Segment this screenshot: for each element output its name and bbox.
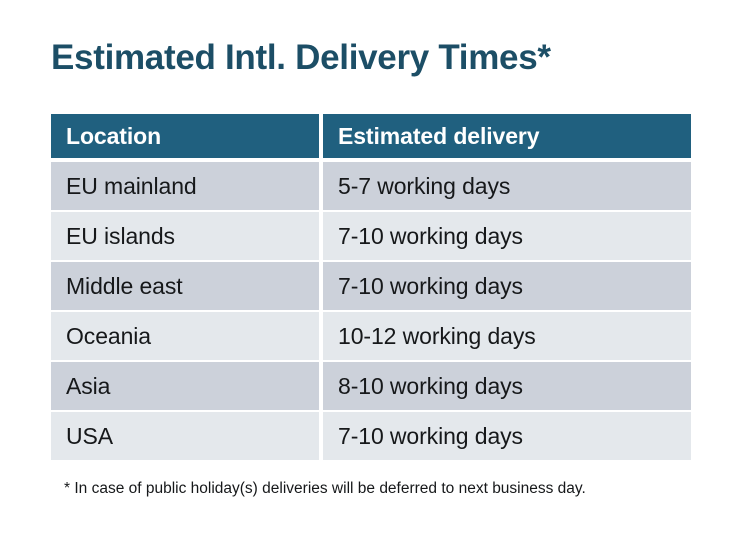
table-cell-delivery: 7-10 working days <box>323 212 691 260</box>
table-cell-delivery-text: 5-7 working days <box>338 173 510 200</box>
table-header-row: Location Estimated delivery <box>51 114 691 158</box>
delivery-times-page: Estimated Intl. Delivery Times* Location… <box>0 0 745 536</box>
table-cell-location: EU mainland <box>51 162 319 210</box>
table-row: USA 7-10 working days <box>51 412 691 460</box>
table-cell-location-text: EU islands <box>66 223 175 250</box>
table-cell-delivery-text: 7-10 working days <box>338 423 523 450</box>
table-cell-delivery: 5-7 working days <box>323 162 691 210</box>
page-title: Estimated Intl. Delivery Times* <box>51 36 551 80</box>
table-cell-location: EU islands <box>51 212 319 260</box>
table-cell-location-text: Asia <box>66 373 110 400</box>
table-row: Asia 8-10 working days <box>51 362 691 410</box>
table-cell-delivery: 8-10 working days <box>323 362 691 410</box>
delivery-times-table: Location Estimated delivery EU mainland … <box>51 114 691 462</box>
table-cell-location-text: Middle east <box>66 273 183 300</box>
table-row: Oceania 10-12 working days <box>51 312 691 360</box>
table-header-label-location: Location <box>66 123 161 150</box>
table-cell-location: Oceania <box>51 312 319 360</box>
table-cell-delivery: 7-10 working days <box>323 262 691 310</box>
table-cell-location: Asia <box>51 362 319 410</box>
table-cell-delivery-text: 8-10 working days <box>338 373 523 400</box>
table-cell-location-text: USA <box>66 423 113 450</box>
table-header-label-delivery: Estimated delivery <box>338 123 539 150</box>
table-cell-delivery: 10-12 working days <box>323 312 691 360</box>
table-cell-location-text: EU mainland <box>66 173 197 200</box>
table-row: EU islands 7-10 working days <box>51 212 691 260</box>
table-cell-delivery: 7-10 working days <box>323 412 691 460</box>
table-cell-delivery-text: 7-10 working days <box>338 273 523 300</box>
table-cell-location: USA <box>51 412 319 460</box>
table-cell-delivery-text: 10-12 working days <box>338 323 536 350</box>
table-cell-location: Middle east <box>51 262 319 310</box>
table-row: Middle east 7-10 working days <box>51 262 691 310</box>
table-row: EU mainland 5-7 working days <box>51 162 691 210</box>
table-header-cell-delivery: Estimated delivery <box>323 114 691 158</box>
table-cell-delivery-text: 7-10 working days <box>338 223 523 250</box>
table-header-cell-location: Location <box>51 114 319 158</box>
table-cell-location-text: Oceania <box>66 323 151 350</box>
footnote-text: * In case of public holiday(s) deliverie… <box>64 479 586 499</box>
